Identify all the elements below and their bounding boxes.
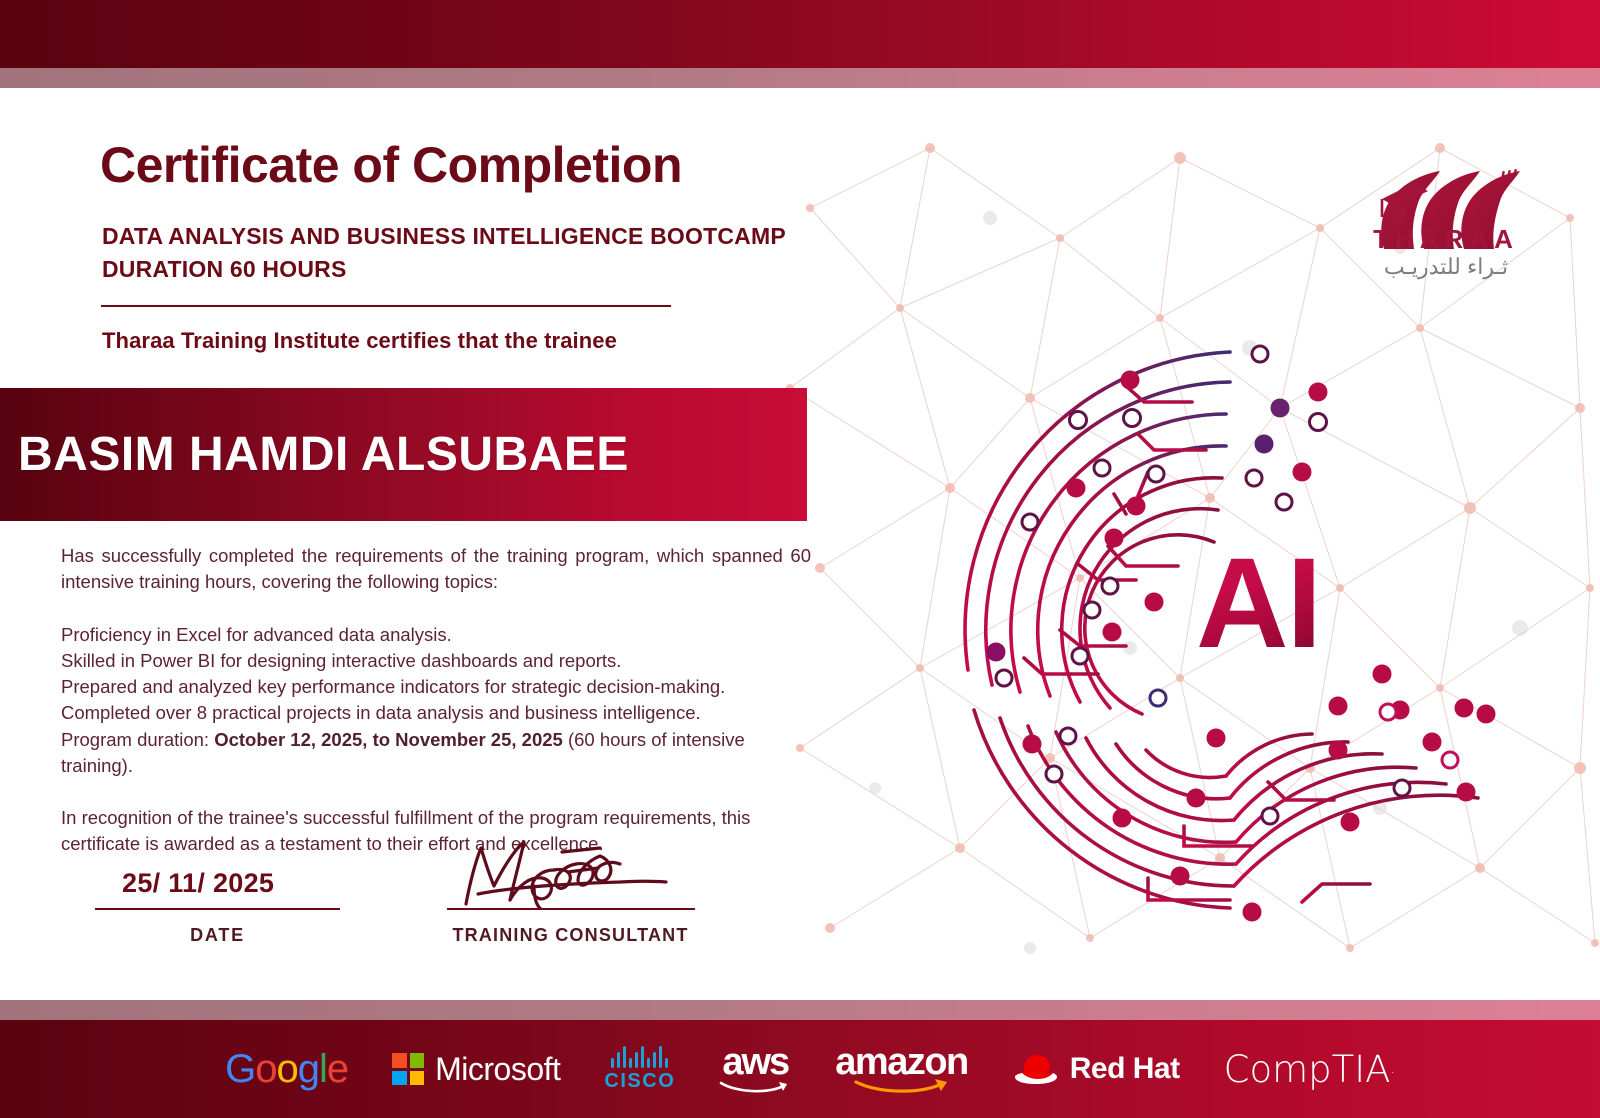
cisco-logo: CISCO <box>604 1046 675 1093</box>
signature-mark <box>448 838 696 910</box>
aws-logo: aws <box>719 1044 791 1094</box>
aws-wordmark: aws <box>722 1044 788 1080</box>
top-accent-stripe <box>0 68 1600 88</box>
cisco-bars-icon <box>611 1046 668 1068</box>
partner-logos-row: Google Microsoft CISCO aws amazon <box>0 1020 1600 1118</box>
bottom-accent-stripe <box>0 1000 1600 1020</box>
google-letter-e: e <box>327 1047 348 1091</box>
microsoft-logo: Microsoft <box>392 1051 560 1088</box>
ai-label: AI <box>1196 540 1320 668</box>
top-border-bar <box>0 0 1600 68</box>
microsoft-squares-icon <box>392 1053 424 1085</box>
signature-rule <box>447 908 695 910</box>
date-rule <box>95 908 340 910</box>
logo-arabic-text: ثـراء للتدريـب <box>1358 254 1534 280</box>
program-duration-line: Program duration: October 12, 2025, to N… <box>61 727 811 780</box>
body-closing: In recognition of the trainee's successf… <box>61 805 811 858</box>
page-title: Certificate of Completion <box>100 140 682 190</box>
recipient-name: BASIM HAMDI ALSUBAEE <box>18 427 629 482</box>
consultant-label: TRAINING CONSULTANT <box>423 925 718 946</box>
program-duration: DURATION 60 HOURS <box>102 253 786 286</box>
amazon-smile-icon <box>853 1078 951 1094</box>
duration-dates: October 12, 2025, to November 25, 2025 <box>214 729 563 750</box>
date-value: 25/ 11/ 2025 <box>122 868 274 899</box>
logo-wordmark: THARAA <box>1358 224 1534 255</box>
amazon-wordmark: amazon <box>835 1044 967 1080</box>
comptia-wordmark: CompTIA <box>1224 1051 1391 1088</box>
comptia-logo: CompTIA. <box>1224 1051 1395 1088</box>
topics-list: Proficiency in Excel for advanced data a… <box>61 622 811 780</box>
body-intro: Has successfully completed the requireme… <box>61 543 811 596</box>
google-letter-g: G <box>225 1047 255 1091</box>
certifies-line: Tharaa Training Institute certifies that… <box>102 328 617 354</box>
topic-item: Proficiency in Excel for advanced data a… <box>61 622 811 648</box>
google-letter-g2: g <box>298 1047 319 1091</box>
topic-item: Skilled in Power BI for designing intera… <box>61 648 811 674</box>
program-name: DATA ANALYSIS AND BUSINESS INTELLIGENCE … <box>102 220 786 253</box>
redhat-wordmark: Red Hat <box>1070 1052 1180 1086</box>
date-label: DATE <box>95 925 340 946</box>
certificate-body: Has successfully completed the requireme… <box>61 543 811 858</box>
topic-item: Completed over 8 practical projects in d… <box>61 700 811 726</box>
google-logo: Google <box>225 1049 348 1089</box>
program-subtitle: DATA ANALYSIS AND BUSINESS INTELLIGENCE … <box>102 220 786 285</box>
certificate-page: Certificate of Completion DATA ANALYSIS … <box>0 0 1600 1118</box>
duration-prefix: Program duration: <box>61 729 214 750</box>
microsoft-wordmark: Microsoft <box>435 1051 560 1088</box>
amazon-logo: amazon <box>835 1044 967 1093</box>
cisco-wordmark: CISCO <box>604 1070 675 1093</box>
recipient-name-banner: BASIM HAMDI ALSUBAEE <box>0 388 807 521</box>
comptia-trademark: . <box>1390 1062 1394 1076</box>
google-letter-l: l <box>319 1047 327 1091</box>
aws-smile-icon <box>719 1080 791 1094</box>
google-letter-o1: o <box>255 1047 276 1091</box>
redhat-fedora-icon <box>1012 1052 1060 1086</box>
header-divider <box>101 305 671 307</box>
topic-item: Prepared and analyzed key performance in… <box>61 674 811 700</box>
google-letter-o2: o <box>276 1047 297 1091</box>
redhat-logo: Red Hat <box>1012 1052 1180 1086</box>
